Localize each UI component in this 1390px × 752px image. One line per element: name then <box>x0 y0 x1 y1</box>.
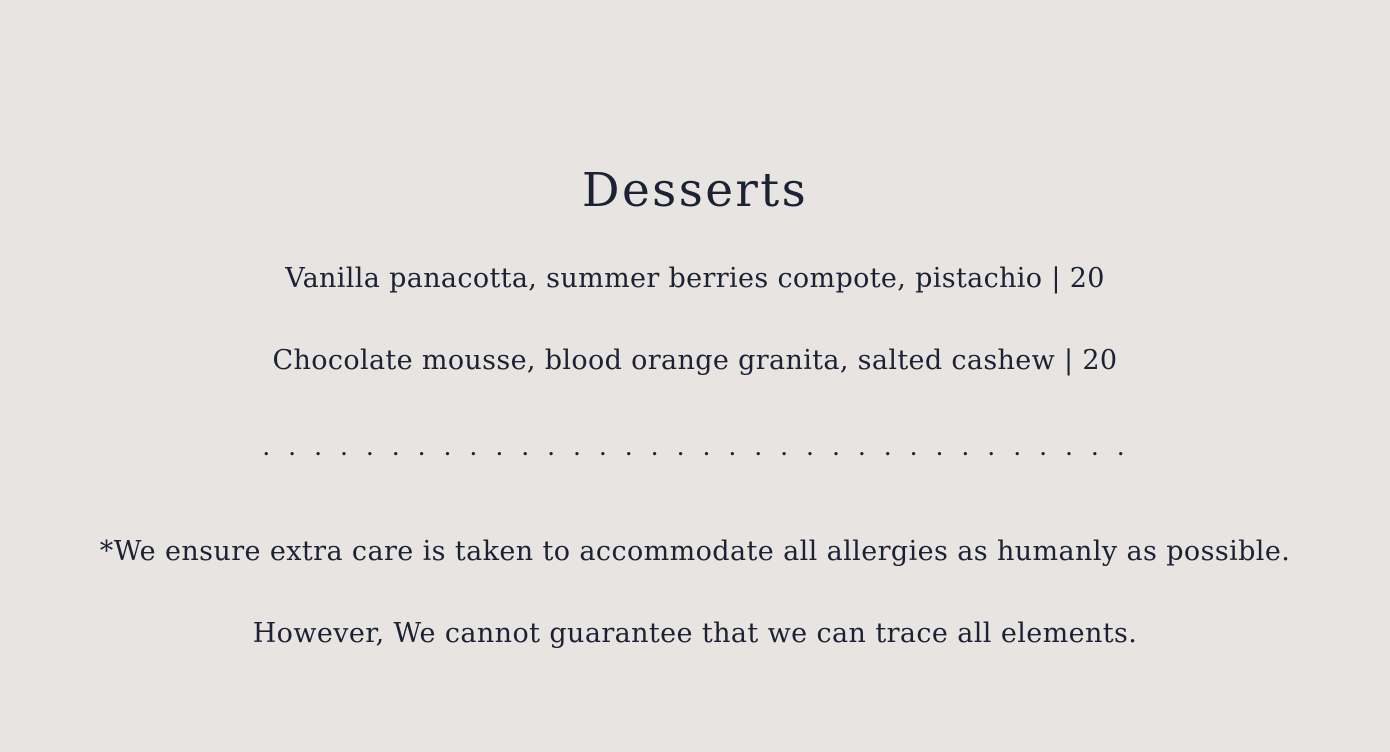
menu-item: Chocolate mousse, blood orange granita, … <box>0 344 1390 379</box>
allergy-note-line: *We ensure extra care is taken to accomm… <box>0 535 1390 570</box>
menu-items-list: Vanilla panacotta, summer berries compot… <box>0 262 1390 378</box>
dessert-menu-page: Desserts Vanilla panacotta, summer berri… <box>0 0 1390 752</box>
dotted-divider-dots: . . . . . . . . . . . . . . . . . . . . … <box>260 434 1129 459</box>
menu-item: Vanilla panacotta, summer berries compot… <box>0 262 1390 297</box>
page-title: Desserts <box>0 165 1390 217</box>
allergy-note-line: However, We cannot guarantee that we can… <box>0 617 1390 652</box>
allergy-notes: *We ensure extra care is taken to accomm… <box>0 508 1390 678</box>
dotted-divider: . . . . . . . . . . . . . . . . . . . . … <box>0 434 1390 464</box>
